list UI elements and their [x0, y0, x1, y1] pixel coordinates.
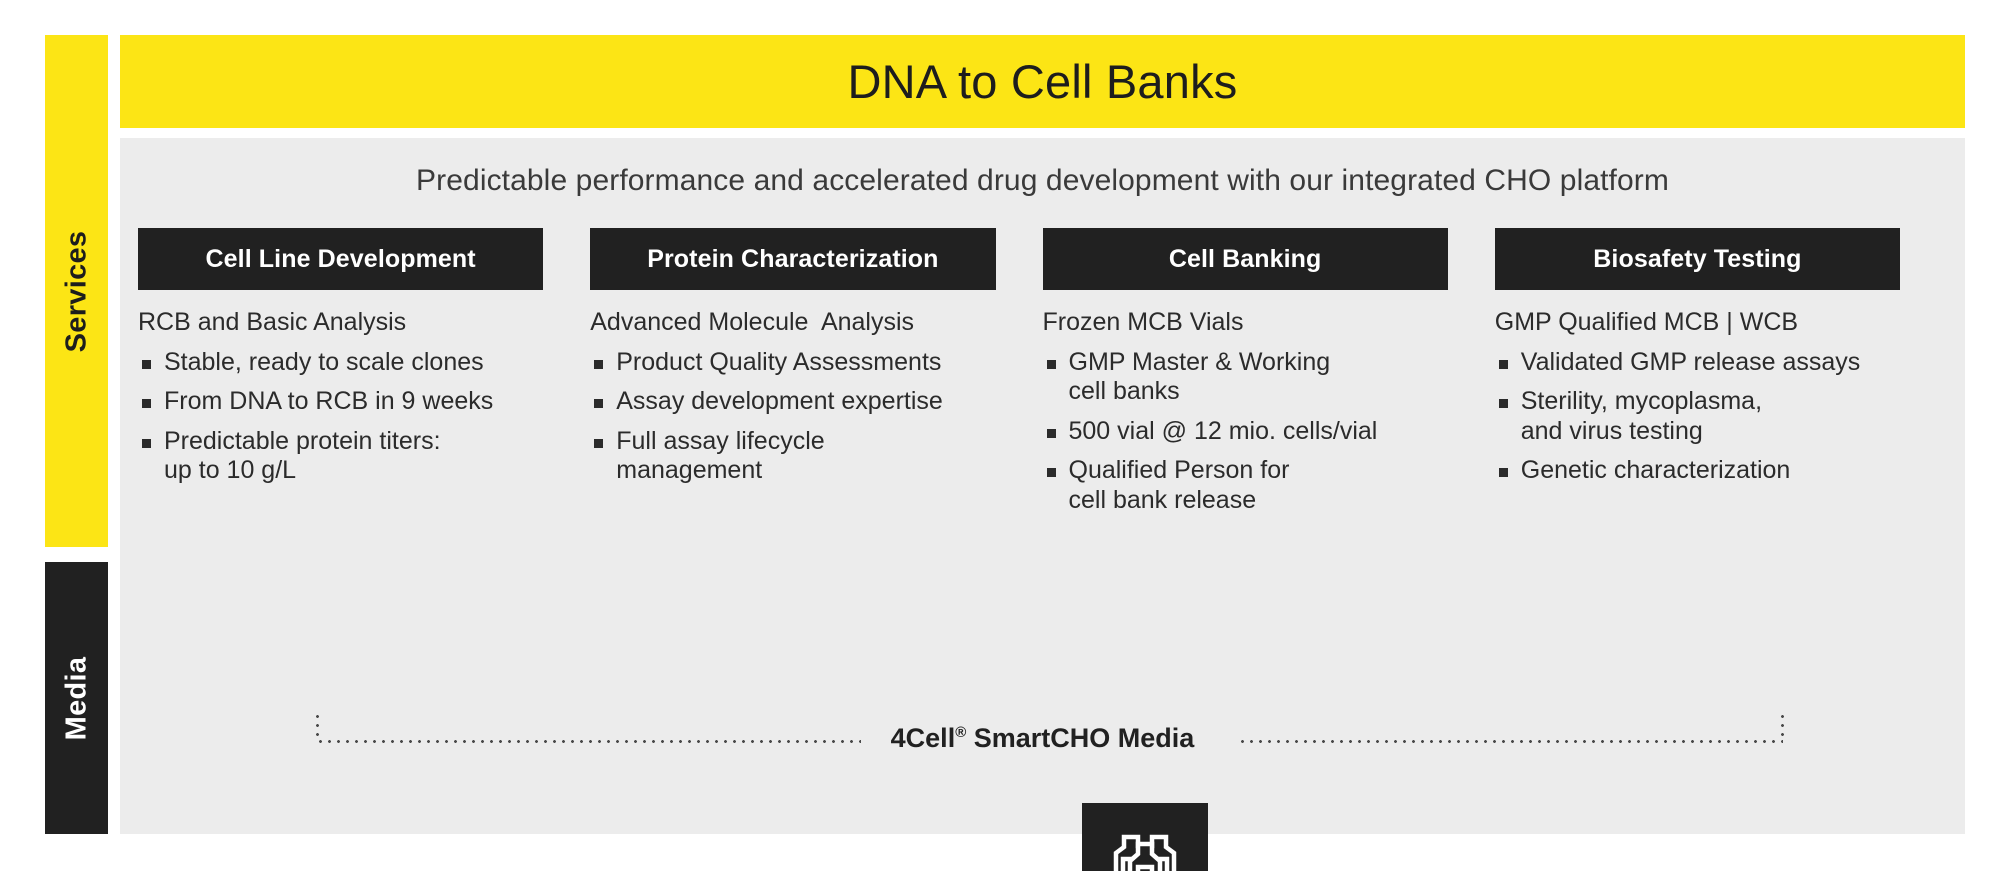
column-bullet-list: Validated GMP release assays Sterility, … — [1495, 348, 1900, 486]
column-bullet-list: Product Quality Assessments Assay develo… — [590, 348, 995, 486]
media-product-name: 4Cell — [891, 723, 956, 753]
list-item: Validated GMP release assays — [1495, 348, 1900, 378]
column-biosafety-testing: Biosafety Testing GMP Qualified MCB | WC… — [1495, 228, 1947, 515]
column-cell-banking: Cell Banking Frozen MCB Vials GMP Master… — [1043, 228, 1495, 515]
column-lead: Frozen MCB Vials — [1043, 308, 1448, 338]
list-item: GMP Master & Working cell banks — [1043, 348, 1448, 407]
rail-media: Media — [45, 562, 108, 834]
column-lead: GMP Qualified MCB | WCB — [1495, 308, 1900, 338]
list-item: 500 vial @ 12 mio. cells/vial — [1043, 417, 1448, 447]
page-title: DNA to Cell Banks — [847, 54, 1237, 109]
column-header-box[interactable]: Protein Characterization — [590, 228, 995, 290]
main-panel: Predictable performance and accelerated … — [120, 138, 1965, 834]
registered-trademark-icon: ® — [955, 724, 966, 741]
list-item: Predictable protein titers: up to 10 g/L — [138, 427, 543, 486]
list-item: Assay development expertise — [590, 387, 995, 417]
title-banner: DNA to Cell Banks — [120, 35, 1965, 128]
column-header-box[interactable]: Cell Banking — [1043, 228, 1448, 290]
column-header-label: Cell Line Development — [206, 245, 476, 274]
service-columns: Cell Line Development RCB and Basic Anal… — [138, 228, 1947, 515]
column-header-box[interactable]: Cell Line Development — [138, 228, 543, 290]
list-item: Sterility, mycoplasma, and virus testing — [1495, 387, 1900, 446]
column-header-label: Biosafety Testing — [1593, 245, 1801, 274]
media-band: 4Cell® SmartCHO Media — [120, 693, 1965, 753]
column-lead: RCB and Basic Analysis — [138, 308, 543, 338]
column-header-label: Protein Characterization — [647, 245, 938, 274]
list-item: Stable, ready to scale clones — [138, 348, 543, 378]
list-item: Qualified Person for cell bank release — [1043, 456, 1448, 515]
media-product-label: 4Cell® SmartCHO Media — [120, 723, 1965, 754]
column-bullet-list: Stable, ready to scale clones From DNA t… — [138, 348, 543, 486]
list-item: Product Quality Assessments — [590, 348, 995, 378]
column-protein-characterization: Protein Characterization Advanced Molecu… — [590, 228, 1042, 515]
column-lead: Advanced Molecule Analysis — [590, 308, 995, 338]
media-bottles-icon — [1082, 803, 1208, 871]
slide-root: Services Media DNA to Cell Banks Predict… — [0, 0, 2000, 871]
list-item: Full assay lifecycle management — [590, 427, 995, 486]
column-bullet-list: GMP Master & Working cell banks 500 vial… — [1043, 348, 1448, 516]
column-header-label: Cell Banking — [1169, 245, 1322, 274]
rail-services: Services — [45, 35, 108, 547]
rail-services-label: Services — [60, 230, 93, 352]
column-header-box[interactable]: Biosafety Testing — [1495, 228, 1900, 290]
column-cell-line-development: Cell Line Development RCB and Basic Anal… — [138, 228, 590, 515]
list-item: Genetic characterization — [1495, 456, 1900, 486]
list-item: From DNA to RCB in 9 weeks — [138, 387, 543, 417]
subtitle: Predictable performance and accelerated … — [120, 164, 1965, 198]
rail-media-label: Media — [60, 656, 93, 740]
media-product-suffix: SmartCHO Media — [966, 723, 1194, 753]
